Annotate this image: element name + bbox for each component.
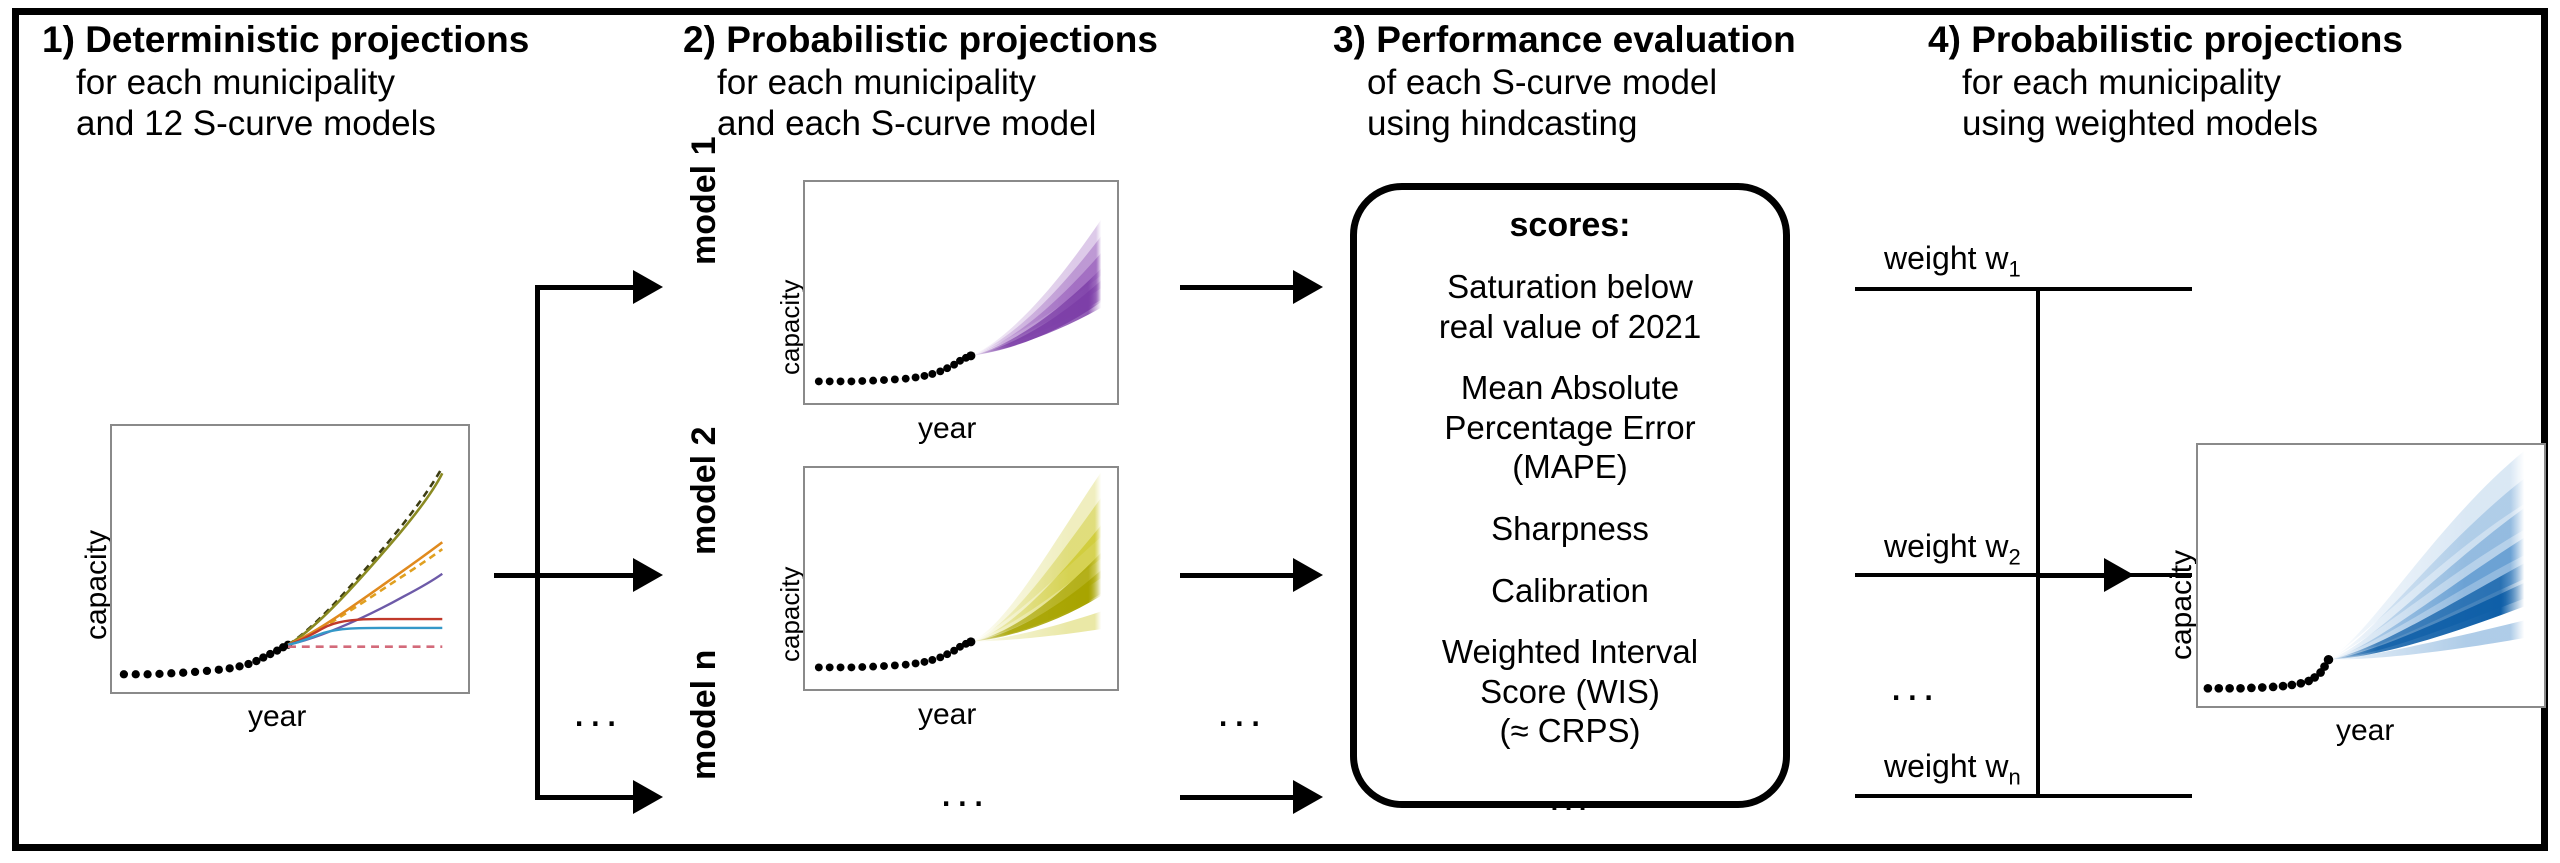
- deterministic-projections-plot: [110, 424, 470, 694]
- weighted-arrow-head: [2104, 558, 2134, 592]
- split-arrow-branch-1-head: [633, 270, 663, 304]
- split-arrow-feed-horizontal: [494, 573, 540, 578]
- eval-arrow-2-head: [1293, 558, 1323, 592]
- probabilistic-weighted-svg: [2198, 445, 2544, 706]
- model-1-x-axis-label: year: [918, 412, 976, 446]
- weight-label-wn-text: weight w: [1884, 748, 2009, 784]
- split-arrow-branch-n-head: [633, 780, 663, 814]
- model-2-y-axis-label: capacity: [775, 567, 806, 662]
- split-arrow-ellipsis: ...: [573, 690, 622, 734]
- row-label-model-1: model 1: [685, 137, 724, 265]
- final-plot-y-axis-label: capacity: [2165, 550, 2199, 660]
- weight-label-w2: weight w2: [1884, 528, 2021, 570]
- score-item-sharpness: Sharpness: [1357, 509, 1783, 549]
- probabilistic-weighted-plot: [2196, 443, 2546, 708]
- weight-bracket-top-line: [1855, 287, 2192, 291]
- weight-label-wn: weight wn: [1884, 748, 2021, 790]
- panel-1-heading: 1) Deterministic projections for each mu…: [42, 18, 529, 144]
- eval-arrow-2-line: [1180, 573, 1296, 578]
- deterministic-projections-svg: [112, 426, 468, 692]
- probabilistic-model-2-svg: [805, 468, 1117, 689]
- panel-3-sub2: using hindcasting: [1333, 103, 1796, 144]
- split-arrow-trunk-vertical: [535, 285, 540, 800]
- panel-2-sub1: for each municipality: [683, 62, 1158, 103]
- panel-4-sub2: using weighted models: [1928, 103, 2403, 144]
- panel-1-title: Deterministic projections: [85, 19, 529, 60]
- split-arrow-branch-1-line: [535, 285, 635, 290]
- panel-4-number: 4): [1928, 19, 1961, 60]
- panel-1-title-line: 1) Deterministic projections: [42, 18, 529, 62]
- panel-4-sub1: for each municipality: [1928, 62, 2403, 103]
- panel-1-number: 1): [42, 19, 75, 60]
- historical-data-points: [120, 641, 292, 679]
- panel-3-sub1: of each S-curve model: [1333, 62, 1796, 103]
- panel-2-number: 2): [683, 19, 716, 60]
- model-1-historical-points: [815, 351, 976, 385]
- panel-1-y-axis-label: capacity: [80, 530, 114, 640]
- weighted-arrow-line: [2036, 573, 2106, 578]
- model-1-y-axis-label: capacity: [775, 280, 806, 375]
- scores-box: scores: Saturation below real value of 2…: [1350, 183, 1790, 808]
- panel-3-title: Performance evaluation: [1376, 19, 1795, 60]
- eval-arrow-1-line: [1180, 285, 1296, 290]
- weighted-uncertainty-band: [2328, 451, 2524, 660]
- figure-canvas: 1) Deterministic projections for each mu…: [0, 0, 2560, 863]
- weight-bracket-ellipsis: ...: [1890, 664, 1939, 708]
- row-label-model-2: model 2: [685, 427, 724, 555]
- probabilistic-model-2-plot: [803, 466, 1119, 691]
- panel-1-sub1: for each municipality: [42, 62, 529, 103]
- panel-4-title: Probabilistic projections: [1971, 19, 2403, 60]
- panel-4-title-line: 4) Probabilistic projections: [1928, 18, 2403, 62]
- eval-arrow-n-line: [1180, 795, 1296, 800]
- weight-label-w1: weight w1: [1884, 240, 2021, 282]
- eval-arrow-ellipsis: ...: [1217, 690, 1266, 734]
- panel-1-x-axis-label: year: [248, 700, 306, 734]
- weight-label-w2-text: weight w: [1884, 528, 2009, 564]
- weighted-historical-points: [2204, 655, 2334, 693]
- panel-3-number: 3): [1333, 19, 1366, 60]
- scores-ellipsis: ...: [1357, 777, 1783, 817]
- model-1-uncertainty-band: [971, 219, 1101, 356]
- series-blue-saturating: [288, 628, 442, 645]
- panel-3-heading: 3) Performance evaluation of each S-curv…: [1333, 18, 1796, 144]
- panel-2-sub2: and each S-curve model: [683, 103, 1158, 144]
- score-item-calibration: Calibration: [1357, 571, 1783, 611]
- weight-bracket-vertical-line: [2036, 287, 2040, 798]
- final-plot-x-axis-label: year: [2336, 714, 2394, 748]
- probabilistic-model-1-plot: [803, 180, 1119, 405]
- score-item-saturation: Saturation below real value of 2021: [1357, 267, 1783, 346]
- panel-2-heading: 2) Probabilistic projections for each mu…: [683, 18, 1158, 144]
- panel-2-title: Probabilistic projections: [726, 19, 1158, 60]
- model-2-uncertainty-band: [971, 472, 1101, 642]
- model-2-historical-points: [815, 637, 976, 671]
- scores-heading: scores:: [1357, 206, 1783, 245]
- panel-1-sub2: and 12 S-curve models: [42, 103, 529, 144]
- score-item-wis: Weighted Interval Score (WIS) (≈ CRPS): [1357, 632, 1783, 751]
- row-label-model-n: model n: [685, 650, 724, 780]
- panel-4-heading: 4) Probabilistic projections for each mu…: [1928, 18, 2403, 144]
- eval-arrow-n-head: [1293, 780, 1323, 814]
- split-arrow-branch-2-head: [633, 558, 663, 592]
- model-n-plot-ellipsis: ...: [940, 770, 989, 814]
- weight-bracket-mid-line: [1855, 573, 2192, 577]
- weight-label-w2-sub: 2: [2009, 544, 2021, 569]
- score-item-mape: Mean Absolute Percentage Error (MAPE): [1357, 368, 1783, 487]
- panel-3-title-line: 3) Performance evaluation: [1333, 18, 1796, 62]
- eval-arrow-1-head: [1293, 270, 1323, 304]
- weight-label-w1-sub: 1: [2009, 256, 2021, 281]
- panel-2-title-line: 2) Probabilistic projections: [683, 18, 1158, 62]
- weight-bracket-bottom-line: [1855, 794, 2192, 798]
- split-arrow-branch-n-line: [535, 795, 635, 800]
- model-2-x-axis-label: year: [918, 698, 976, 732]
- weight-label-wn-sub: n: [2009, 764, 2021, 789]
- split-arrow-branch-2-line: [535, 573, 635, 578]
- weight-label-w1-text: weight w: [1884, 240, 2009, 276]
- probabilistic-model-1-svg: [805, 182, 1117, 403]
